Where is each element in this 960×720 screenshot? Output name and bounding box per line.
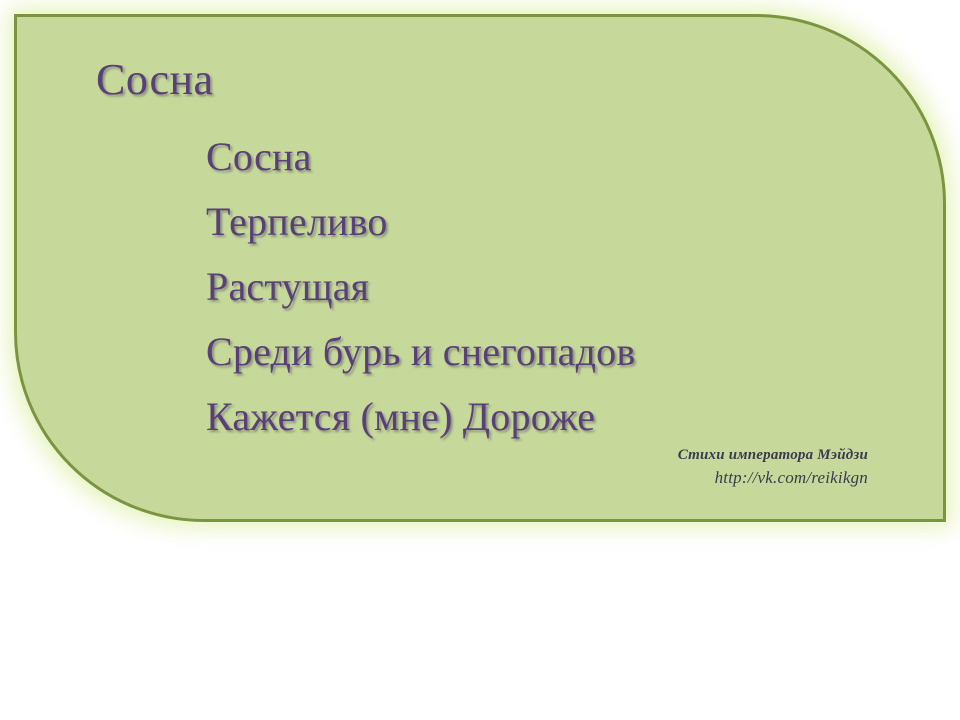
credit-link[interactable]: http://vk.com/reikikgn bbox=[715, 468, 868, 487]
poem-line: Сосна bbox=[206, 124, 926, 189]
poem-line: Растущая bbox=[206, 254, 926, 319]
slide-canvas: Сосна Сосна Терпеливо Растущая Среди бур… bbox=[0, 0, 960, 720]
credit-block: Стихи императора Мэйдзи http://vk.com/re… bbox=[678, 444, 868, 490]
poem-line: Среди бурь и снегопадов bbox=[206, 319, 926, 384]
poem-line: Терпеливо bbox=[206, 189, 926, 254]
page-title: Сосна bbox=[96, 57, 214, 103]
poem-block: Сосна Терпеливо Растущая Среди бурь и сн… bbox=[206, 124, 926, 449]
credit-author: Стихи императора Мэйдзи bbox=[678, 444, 868, 466]
poem-line: Кажется (мне) Дороже bbox=[206, 384, 926, 449]
